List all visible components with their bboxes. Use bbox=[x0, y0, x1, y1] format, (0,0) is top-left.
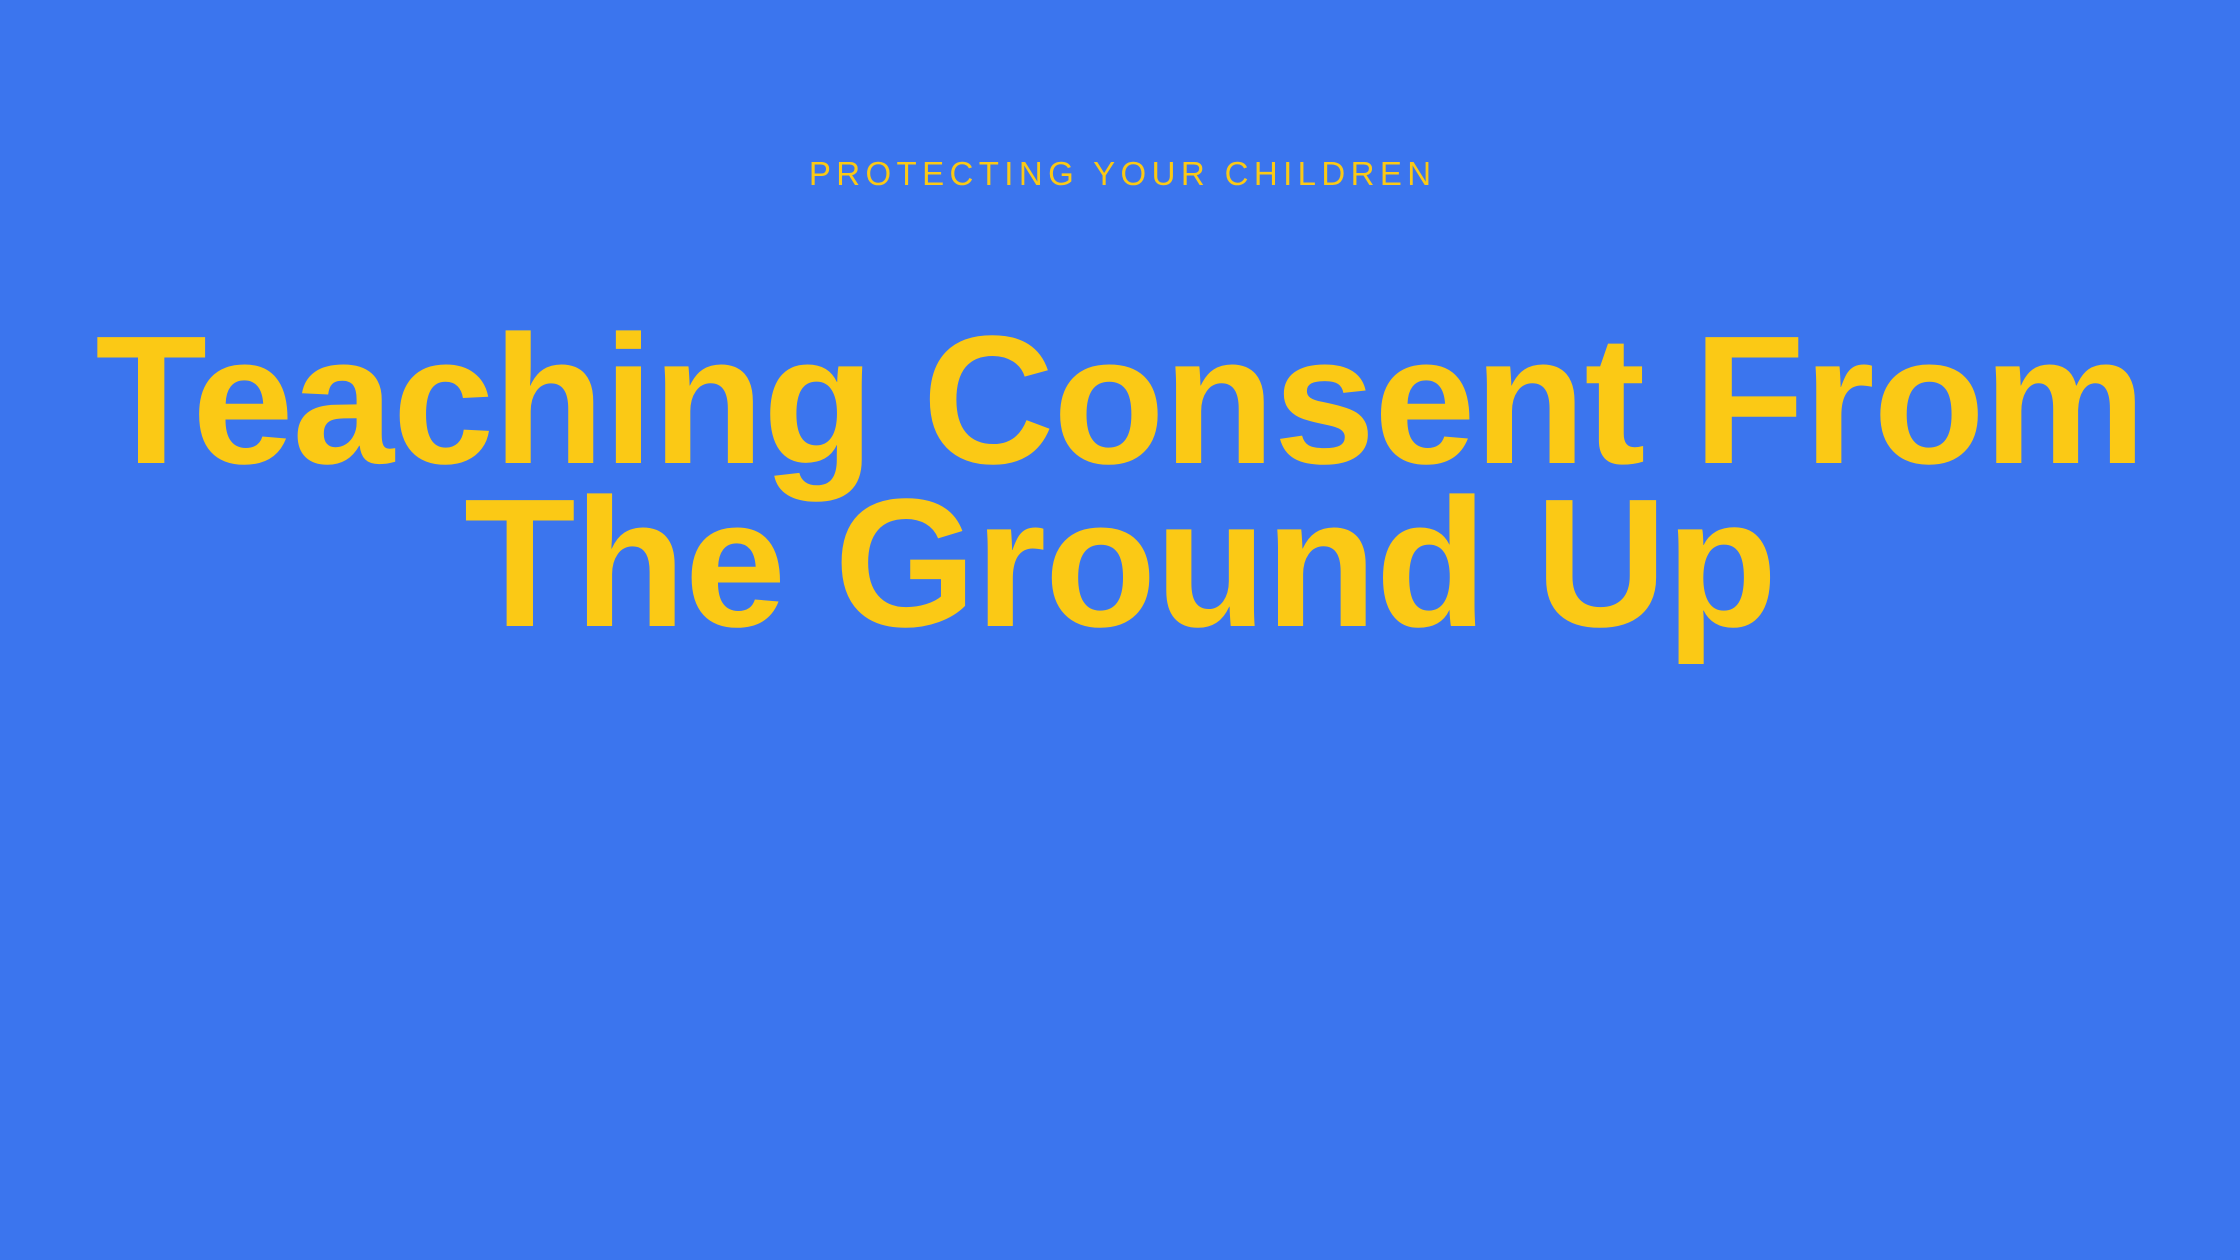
eyebrow-text: PROTECTING YOUR CHILDREN bbox=[803, 157, 1436, 190]
page-title: Teaching Consent From The Ground Up bbox=[0, 318, 2240, 644]
title-slide: PROTECTING YOUR CHILDREN Teaching Consen… bbox=[0, 0, 2240, 1260]
slide-content: PROTECTING YOUR CHILDREN Teaching Consen… bbox=[0, 0, 2240, 1260]
headline-line-2: The Ground Up bbox=[0, 481, 2240, 644]
headline-line-1: Teaching Consent From bbox=[0, 318, 2240, 481]
